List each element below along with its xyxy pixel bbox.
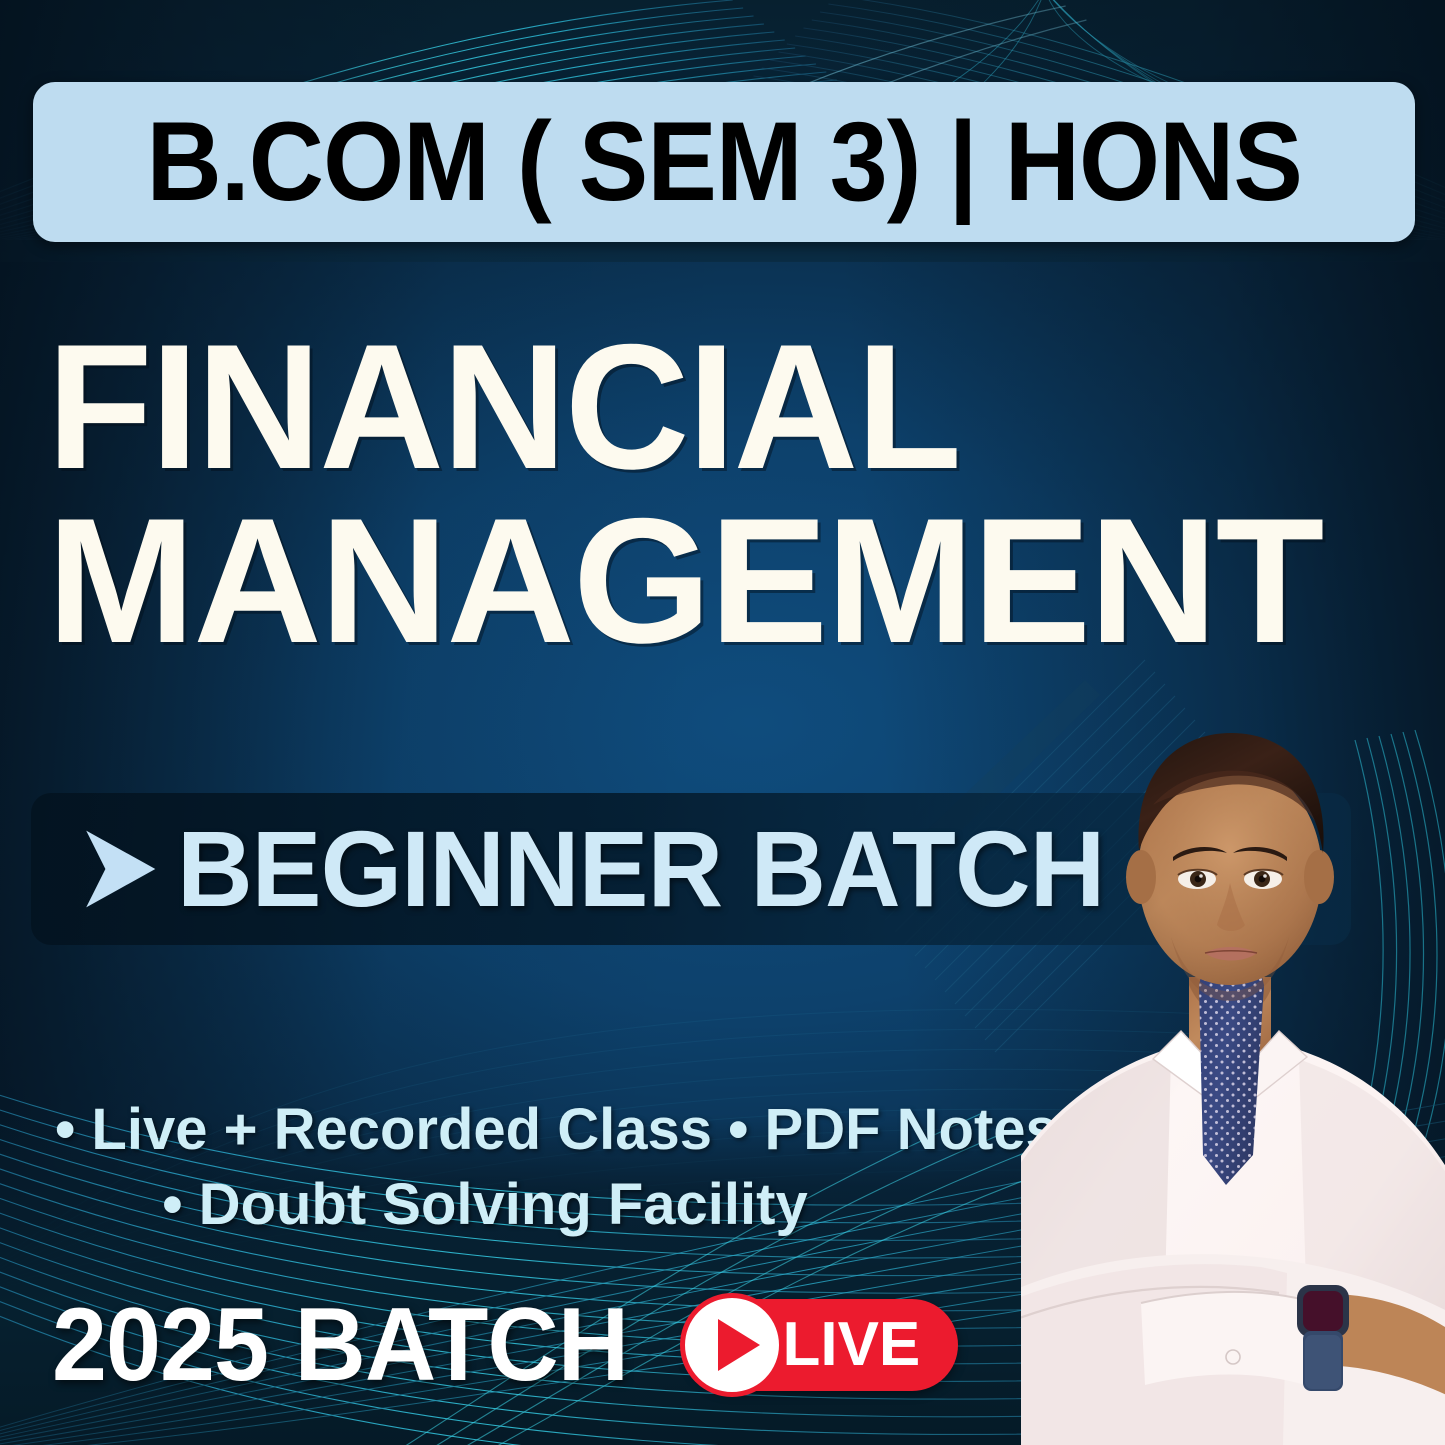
live-badge: LIVE <box>686 1299 958 1391</box>
course-header-title: B.COM ( SEM 3) | HONS <box>146 106 1301 218</box>
feature-line-1: • Live + Recorded Class • PDF Notes <box>55 1092 915 1167</box>
course-title-line-2: MANAGEMENT <box>47 499 1417 663</box>
beginner-batch-label: BEGINNER BATCH <box>177 815 1104 923</box>
live-badge-label: LIVE <box>782 1314 920 1376</box>
course-promo-poster: B.COM ( SEM 3) | HONS FINANCIAL MANAGEME… <box>0 0 1445 1445</box>
course-title-line-1: FINANCIAL <box>47 325 1376 489</box>
bottom-info-row: 2025 BATCH LIVE <box>52 1293 958 1397</box>
beginner-batch-band: BEGINNER BATCH <box>31 793 1351 945</box>
play-icon <box>680 1293 784 1397</box>
course-title-block: FINANCIAL MANAGEMENT <box>47 325 1417 663</box>
play-arrow-icon <box>67 821 163 917</box>
feature-list: • Live + Recorded Class • PDF Notes • Do… <box>55 1092 915 1243</box>
batch-year-label: 2025 BATCH <box>52 1293 628 1397</box>
course-header-pill: B.COM ( SEM 3) | HONS <box>33 82 1415 242</box>
feature-line-2: • Doubt Solving Facility <box>55 1167 915 1242</box>
